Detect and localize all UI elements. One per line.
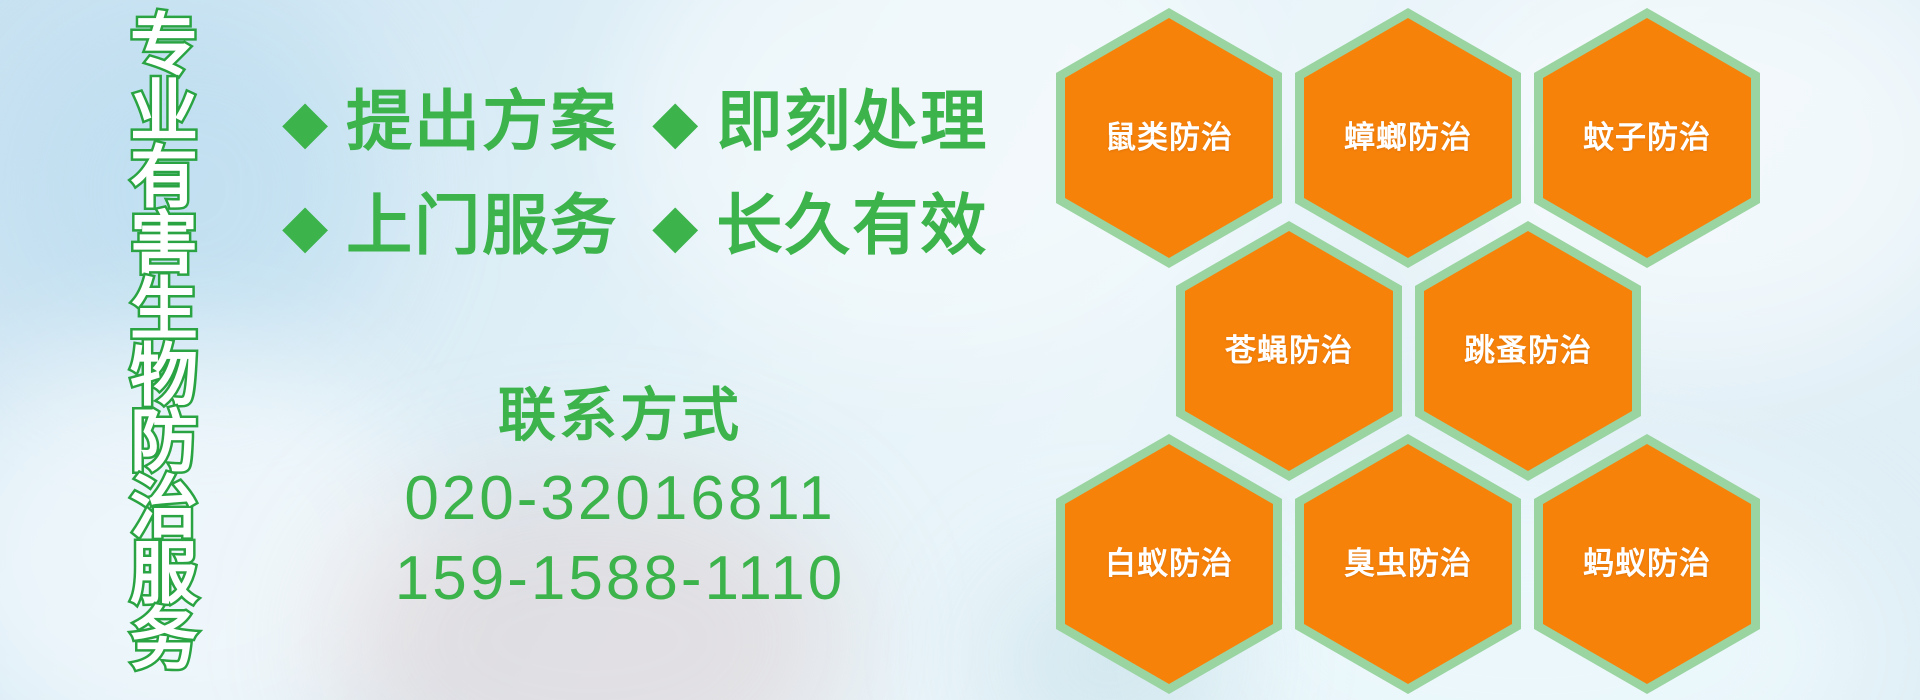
- slogan-row: ◆ 上门服务 ◆ 长久有效: [282, 190, 988, 263]
- service-label: 蚂蚁防治: [1583, 549, 1711, 580]
- slogan-label: 提出方案: [346, 86, 618, 159]
- service-hexagon-cockroach[interactable]: 蟑螂防治: [1295, 8, 1521, 268]
- service-hexagon-mosquito[interactable]: 蚊子防治: [1534, 8, 1760, 268]
- vertical-headline: 专 业 有 害 生 物 防 治 服 务: [112, 14, 216, 674]
- vertical-headline-char: 生: [130, 278, 198, 344]
- service-label: 蟑螂防治: [1344, 123, 1472, 154]
- diamond-bullet-icon: ◆: [652, 196, 698, 256]
- service-hexagon-fly[interactable]: 苍蝇防治: [1176, 221, 1402, 481]
- service-hexagon-flea[interactable]: 跳蚤防治: [1415, 221, 1641, 481]
- slogan-label: 上门服务: [346, 190, 618, 263]
- diamond-bullet-icon: ◆: [282, 196, 328, 256]
- vertical-headline-char: 务: [130, 608, 198, 674]
- service-hexagon-termite[interactable]: 白蚁防治: [1056, 434, 1282, 694]
- contact-block: 联系方式 020-32016811 159-1588-1110: [300, 382, 940, 620]
- service-hexagon-grid: 鼠类防治 蟑螂防治 蚊子防治 苍蝇防治 跳蚤防治 白蚁防治 臭虫防治: [1048, 0, 1808, 700]
- diamond-bullet-icon: ◆: [282, 92, 328, 152]
- service-hexagon-rodent[interactable]: 鼠类防治: [1056, 8, 1282, 268]
- service-label: 臭虫防治: [1344, 549, 1472, 580]
- phone-mobile[interactable]: 159-1588-1110: [300, 539, 940, 620]
- service-label: 苍蝇防治: [1225, 336, 1353, 367]
- slogan-label: 长久有效: [716, 190, 988, 263]
- service-hexagon-bedbug[interactable]: 臭虫防治: [1295, 434, 1521, 694]
- vertical-headline-char: 业: [130, 80, 198, 146]
- service-label: 鼠类防治: [1105, 123, 1233, 154]
- service-hexagon-ant[interactable]: 蚂蚁防治: [1534, 434, 1760, 694]
- pest-control-banner: 专 业 有 害 生 物 防 治 服 务 ◆ 提出方案 ◆ 即刻处理 ◆ 上门服务…: [0, 0, 1920, 700]
- slogan-label: 即刻处理: [716, 86, 988, 159]
- slogan-row: ◆ 提出方案 ◆ 即刻处理: [282, 86, 988, 159]
- vertical-headline-char: 物: [130, 344, 198, 410]
- vertical-headline-char: 治: [130, 476, 198, 542]
- vertical-headline-char: 防: [130, 410, 198, 476]
- service-label: 白蚁防治: [1105, 549, 1233, 580]
- diamond-bullet-icon: ◆: [652, 92, 698, 152]
- vertical-headline-char: 有: [130, 146, 198, 212]
- service-label: 跳蚤防治: [1464, 336, 1592, 367]
- service-label: 蚊子防治: [1583, 123, 1711, 154]
- vertical-headline-char: 服: [130, 542, 198, 608]
- vertical-headline-char: 专: [130, 14, 198, 80]
- vertical-headline-char: 害: [130, 212, 198, 278]
- phone-landline[interactable]: 020-32016811: [300, 459, 940, 540]
- contact-heading: 联系方式: [300, 382, 940, 449]
